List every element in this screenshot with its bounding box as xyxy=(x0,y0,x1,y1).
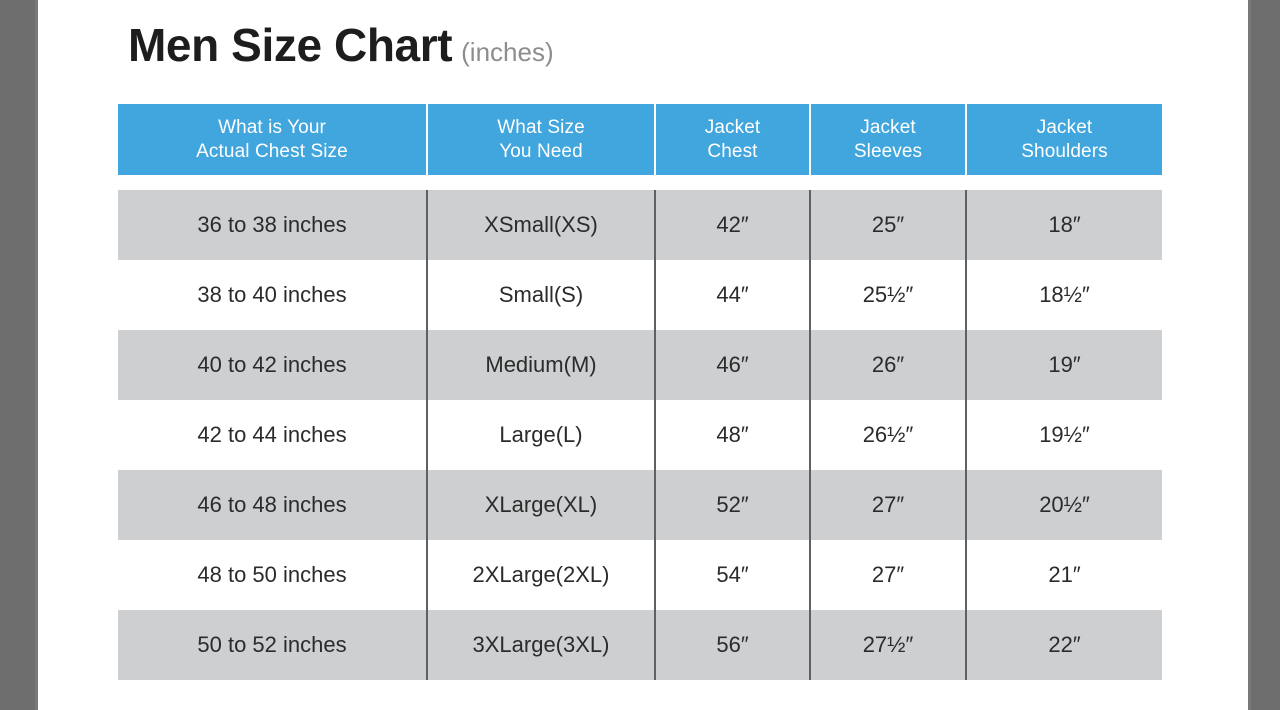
cell-actual-chest-size: 50 to 52 inches xyxy=(118,610,428,680)
table-row: 36 to 38 inches XSmall(XS) 42″ 25″ 18″ xyxy=(118,190,1162,260)
cell-jacket-sleeves: 26½″ xyxy=(811,400,967,470)
header-line-2: You Need xyxy=(499,140,583,164)
header-cell-actual-chest-size: What is Your Actual Chest Size xyxy=(118,104,428,175)
table-row: 42 to 44 inches Large(L) 48″ 26½″ 19½″ xyxy=(118,400,1162,470)
right-bar-seam xyxy=(1248,0,1251,710)
cell-jacket-chest: 54″ xyxy=(656,540,811,610)
cell-jacket-shoulders: 18″ xyxy=(967,190,1162,260)
table-row: 48 to 50 inches 2XLarge(2XL) 54″ 27″ 21″ xyxy=(118,540,1162,610)
cell-size-you-need: 3XLarge(3XL) xyxy=(428,610,656,680)
cell-actual-chest-size: 48 to 50 inches xyxy=(118,540,428,610)
cell-jacket-shoulders: 22″ xyxy=(967,610,1162,680)
page-title-main: Men Size Chart xyxy=(128,19,452,71)
cell-jacket-sleeves: 27½″ xyxy=(811,610,967,680)
header-line-1: Jacket xyxy=(1037,116,1093,140)
cell-jacket-sleeves: 27″ xyxy=(811,470,967,540)
table-row: 38 to 40 inches Small(S) 44″ 25½″ 18½″ xyxy=(118,260,1162,330)
cell-actual-chest-size: 40 to 42 inches xyxy=(118,330,428,400)
table-row: 46 to 48 inches XLarge(XL) 52″ 27″ 20½″ xyxy=(118,470,1162,540)
cell-actual-chest-size: 42 to 44 inches xyxy=(118,400,428,470)
size-chart-screen: Men Size Chart(inches) What is Your Actu… xyxy=(0,0,1280,710)
header-line-1: Jacket xyxy=(860,116,916,140)
header-cell-jacket-shoulders: Jacket Shoulders xyxy=(967,104,1162,175)
header-cell-jacket-sleeves: Jacket Sleeves xyxy=(811,104,967,175)
chart-canvas: Men Size Chart(inches) What is Your Actu… xyxy=(38,0,1248,710)
header-line-1: Jacket xyxy=(705,116,761,140)
header-cell-size-you-need: What Size You Need xyxy=(428,104,656,175)
page-title: Men Size Chart(inches) xyxy=(128,18,554,72)
cell-jacket-chest: 44″ xyxy=(656,260,811,330)
cell-actual-chest-size: 46 to 48 inches xyxy=(118,470,428,540)
cell-jacket-sleeves: 25″ xyxy=(811,190,967,260)
header-line-1: What is Your xyxy=(218,116,326,140)
page-title-unit: (inches) xyxy=(461,37,553,67)
cell-jacket-shoulders: 19″ xyxy=(967,330,1162,400)
cell-jacket-sleeves: 26″ xyxy=(811,330,967,400)
left-letterbox-bar xyxy=(0,0,38,710)
cell-jacket-shoulders: 20½″ xyxy=(967,470,1162,540)
header-cell-jacket-chest: Jacket Chest xyxy=(656,104,811,175)
header-line-2: Chest xyxy=(707,140,757,164)
header-line-2: Actual Chest Size xyxy=(196,140,348,164)
header-line-2: Sleeves xyxy=(854,140,922,164)
cell-jacket-sleeves: 27″ xyxy=(811,540,967,610)
cell-size-you-need: Medium(M) xyxy=(428,330,656,400)
cell-size-you-need: Small(S) xyxy=(428,260,656,330)
cell-size-you-need: Large(L) xyxy=(428,400,656,470)
cell-actual-chest-size: 36 to 38 inches xyxy=(118,190,428,260)
cell-actual-chest-size: 38 to 40 inches xyxy=(118,260,428,330)
cell-jacket-chest: 46″ xyxy=(656,330,811,400)
cell-jacket-chest: 56″ xyxy=(656,610,811,680)
cell-jacket-shoulders: 18½″ xyxy=(967,260,1162,330)
table-header-row: What is Your Actual Chest Size What Size… xyxy=(118,104,1162,175)
header-body-gap xyxy=(118,175,1162,190)
cell-size-you-need: 2XLarge(2XL) xyxy=(428,540,656,610)
cell-jacket-sleeves: 25½″ xyxy=(811,260,967,330)
cell-jacket-chest: 48″ xyxy=(656,400,811,470)
table-row: 50 to 52 inches 3XLarge(3XL) 56″ 27½″ 22… xyxy=(118,610,1162,680)
table-row: 40 to 42 inches Medium(M) 46″ 26″ 19″ xyxy=(118,330,1162,400)
cell-jacket-chest: 52″ xyxy=(656,470,811,540)
cell-size-you-need: XLarge(XL) xyxy=(428,470,656,540)
cell-jacket-shoulders: 21″ xyxy=(967,540,1162,610)
size-chart-table: What is Your Actual Chest Size What Size… xyxy=(118,104,1162,680)
header-line-2: Shoulders xyxy=(1021,140,1107,164)
cell-jacket-chest: 42″ xyxy=(656,190,811,260)
cell-size-you-need: XSmall(XS) xyxy=(428,190,656,260)
cell-jacket-shoulders: 19½″ xyxy=(967,400,1162,470)
right-letterbox-bar xyxy=(1248,0,1280,710)
header-line-1: What Size xyxy=(497,116,585,140)
